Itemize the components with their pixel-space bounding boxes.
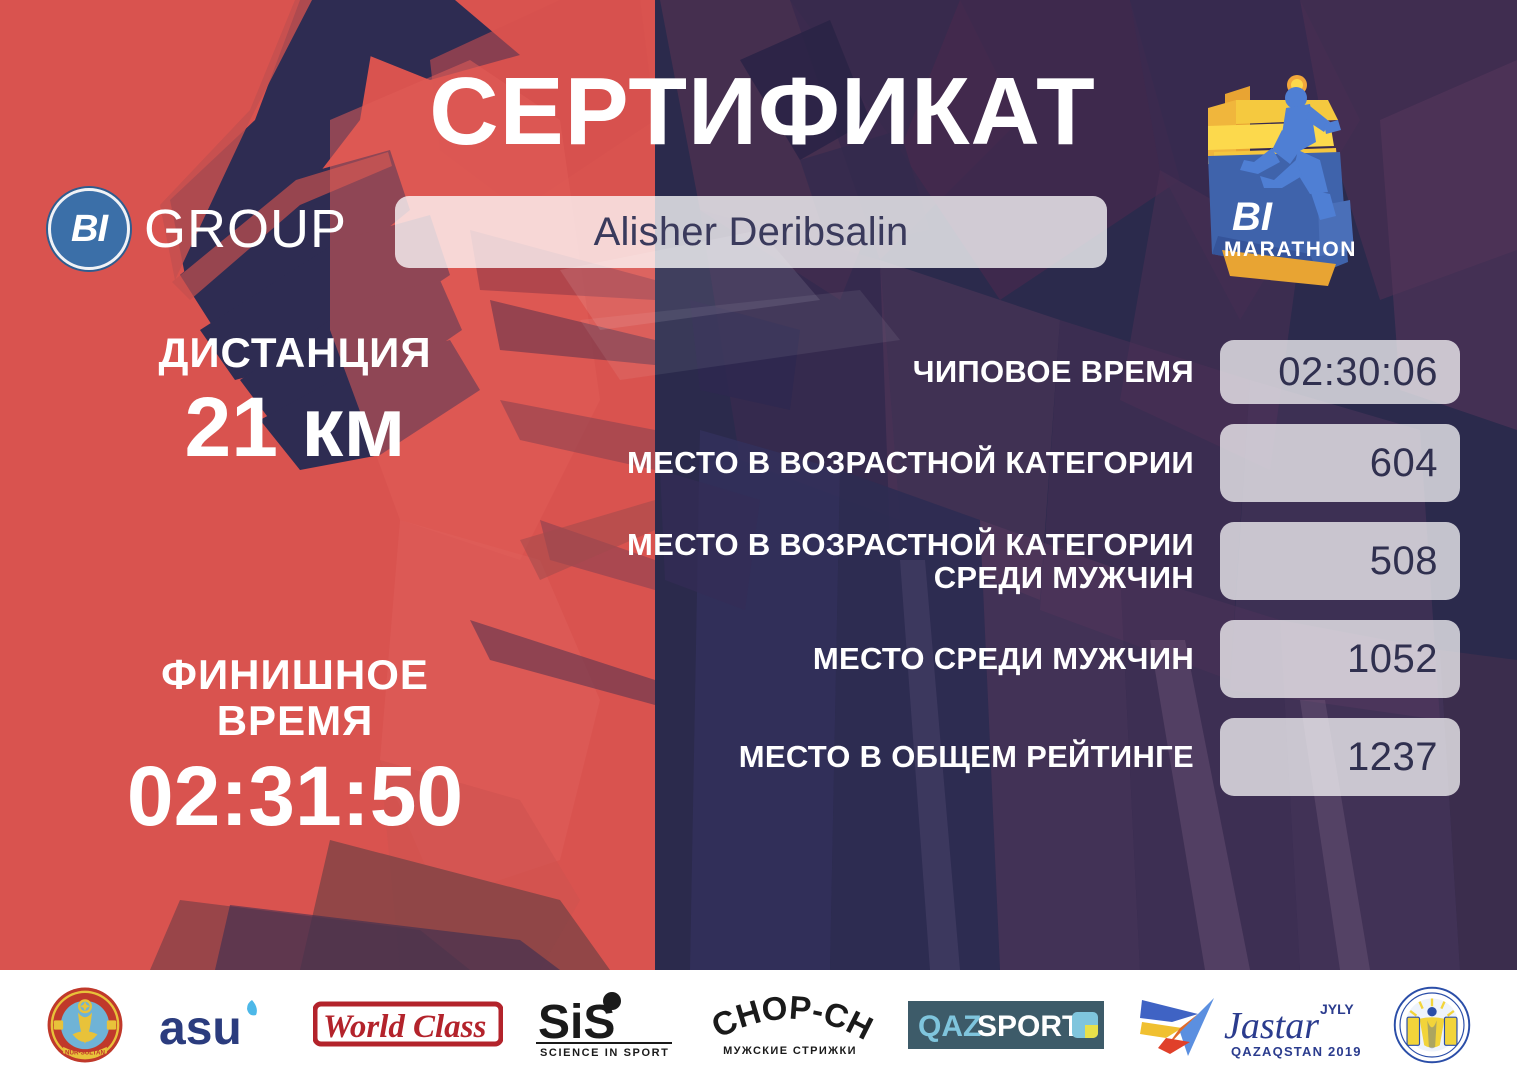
- bi-group-wordmark: GROUP: [144, 198, 347, 260]
- stat-label: МЕСТО В ОБЩЕМ РЕЙТИНГЕ: [600, 740, 1194, 773]
- sponsor-world-class: World Class: [313, 996, 503, 1054]
- stat-row-overall-place: МЕСТО В ОБЩЕМ РЕЙТИНГЕ 1237: [600, 718, 1460, 796]
- stat-label: ЧИПОВОЕ ВРЕМЯ: [600, 355, 1194, 388]
- page-title: СЕРТИФИКАТ: [390, 62, 1135, 163]
- world-class-word-a: World: [323, 1009, 405, 1045]
- sis-logo-text: SiS: [538, 996, 615, 1049]
- nur-sultan-emblem-text: NUR-SULTAN: [65, 1050, 105, 1057]
- world-class-word-b: Class: [413, 1009, 486, 1045]
- marathon-bi-text: BI: [1232, 195, 1273, 239]
- sponsor-chop-chop: CHOP-CHOP МУЖСКИЕ СТРИЖКИ: [705, 992, 875, 1058]
- stat-value: 604: [1220, 424, 1460, 502]
- sponsor-jastar-jyly: Jastar JYLY QAZAQSTAN 2019: [1136, 988, 1360, 1062]
- asu-logo-icon: asu: [157, 994, 281, 1056]
- stat-value: 1237: [1220, 718, 1460, 796]
- jastar-word-text: Jastar: [1224, 1005, 1319, 1047]
- chop-chop-tagline-text: МУЖСКИЕ СТРИЖКИ: [723, 1045, 857, 1057]
- bi-badge-icon: BI: [48, 188, 130, 270]
- nur-sultan-emblem-logo-icon: NUR-SULTAN: [46, 986, 124, 1064]
- ministry-sport-emblem-logo-icon: [1393, 986, 1471, 1064]
- finish-time-label-line2: ВРЕМЯ: [60, 698, 530, 744]
- sponsor-sis: SiS SCIENCE IN SPORT: [536, 992, 672, 1058]
- participant-nameplate: Alisher Deribsalin: [395, 196, 1107, 268]
- bi-marathon-logo: BI MARATHON: [1178, 64, 1378, 292]
- distance-value: 21 км: [60, 380, 530, 474]
- jastar-tagline-text: QAZAQSTAN 2019: [1231, 1044, 1360, 1059]
- sis-logo-icon: SiS SCIENCE IN SPORT: [536, 992, 672, 1058]
- stat-value: 1052: [1220, 620, 1460, 698]
- sponsor-ministry-sport: [1393, 986, 1471, 1064]
- bi-group-logo: BI GROUP: [48, 188, 347, 270]
- stat-label: МЕСТО В ВОЗРАСТНОЙ КАТЕГОРИИ СРЕДИ МУЖЧИ…: [600, 528, 1194, 595]
- sponsor-qazsport: QAZ SPORT: [908, 1001, 1104, 1049]
- chop-chop-word-text: CHOP-CHOP: [705, 992, 875, 1047]
- bi-marathon-icon: BI MARATHON: [1178, 64, 1378, 292]
- sponsor-nur-sultan-emblem: NUR-SULTAN: [46, 986, 124, 1064]
- jyly-sup-text: JYLY: [1320, 1001, 1354, 1017]
- finish-time-block: ФИНИШНОЕ ВРЕМЯ 02:31:50: [60, 652, 530, 842]
- jastar-jyly-logo-icon: Jastar JYLY QAZAQSTAN 2019: [1136, 988, 1360, 1062]
- sis-tagline-text: SCIENCE IN SPORT: [540, 1047, 670, 1058]
- left-stats-block: ДИСТАНЦИЯ 21 км ФИНИШНОЕ ВРЕМЯ 02:31:50: [60, 330, 530, 843]
- asu-logo-text: asu: [159, 1002, 242, 1055]
- sponsor-footer-bar: NUR-SULTAN asu World Class SiS SCI: [0, 970, 1517, 1080]
- stat-label: МЕСТО В ВОЗРАСТНОЙ КАТЕГОРИИ: [600, 446, 1194, 479]
- participant-name: Alisher Deribsalin: [594, 210, 909, 255]
- stat-row-age-category-men-place: МЕСТО В ВОЗРАСТНОЙ КАТЕГОРИИ СРЕДИ МУЖЧИ…: [600, 522, 1460, 600]
- marathon-word-text: MARATHON: [1224, 238, 1357, 261]
- qazsport-logo-icon: QAZ SPORT: [908, 1001, 1104, 1049]
- stat-row-men-place: МЕСТО СРЕДИ МУЖЧИН 1052: [600, 620, 1460, 698]
- right-stats-list: ЧИПОВОЕ ВРЕМЯ 02:30:06 МЕСТО В ВОЗРАСТНО…: [600, 340, 1460, 796]
- finish-time-value: 02:31:50: [60, 749, 530, 843]
- distance-label: ДИСТАНЦИЯ: [60, 330, 530, 376]
- stat-row-age-category-place: МЕСТО В ВОЗРАСТНОЙ КАТЕГОРИИ 604: [600, 424, 1460, 502]
- bi-badge-label: BI: [48, 188, 130, 270]
- qazsport-word-a: QAZ: [918, 1010, 981, 1043]
- finish-time-label-line1: ФИНИШНОЕ: [60, 652, 530, 698]
- world-class-logo-icon: World Class: [313, 996, 503, 1054]
- stat-label: МЕСТО СРЕДИ МУЖЧИН: [600, 642, 1194, 675]
- stat-value: 508: [1220, 522, 1460, 600]
- stat-row-chip-time: ЧИПОВОЕ ВРЕМЯ 02:30:06: [600, 340, 1460, 404]
- stat-value: 02:30:06: [1220, 340, 1460, 404]
- sponsor-asu: asu: [157, 994, 281, 1056]
- qazsport-word-b: SPORT: [977, 1010, 1080, 1043]
- certificate-canvas: СЕРТИФИКАТ Alisher Deribsalin BI GROUP: [0, 0, 1517, 1080]
- chop-chop-logo-icon: CHOP-CHOP МУЖСКИЕ СТРИЖКИ: [705, 992, 875, 1058]
